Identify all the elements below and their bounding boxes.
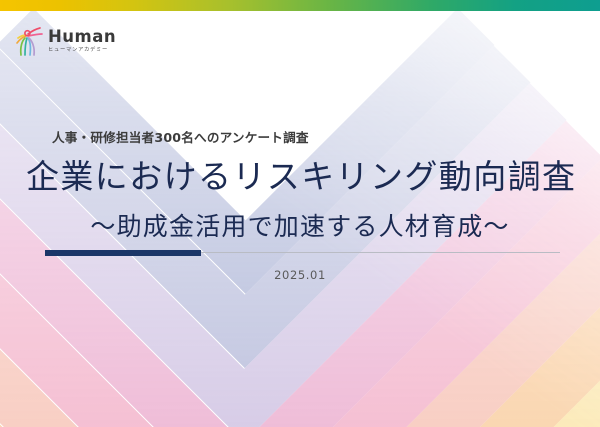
cover-eyebrow: 人事・研修担当者300名へのアンケート調査 bbox=[52, 127, 309, 146]
title-divider bbox=[45, 250, 560, 256]
logo-sub-wordmark: ヒューマンアカデミー bbox=[48, 48, 118, 53]
logo-text-lockup: Human ヒューマンアカデミー bbox=[48, 29, 116, 53]
page-title: 企業におけるリスキリング動向調査 bbox=[26, 159, 576, 196]
logo-wordmark: Human bbox=[48, 27, 116, 46]
page-subtitle: 〜助成金活用で加速する人材育成〜 bbox=[0, 207, 600, 243]
divider-accent-bar bbox=[45, 250, 201, 256]
brand-logo[interactable]: Human ヒューマンアカデミー bbox=[14, 25, 116, 57]
publish-date: 2025.01 bbox=[0, 268, 600, 282]
cover-slide: Human ヒューマンアカデミー 人事・研修担当者300名へのアンケート調査 企… bbox=[0, 0, 600, 427]
human-figure-icon bbox=[14, 25, 44, 57]
brand-gradient-bar bbox=[0, 0, 600, 11]
